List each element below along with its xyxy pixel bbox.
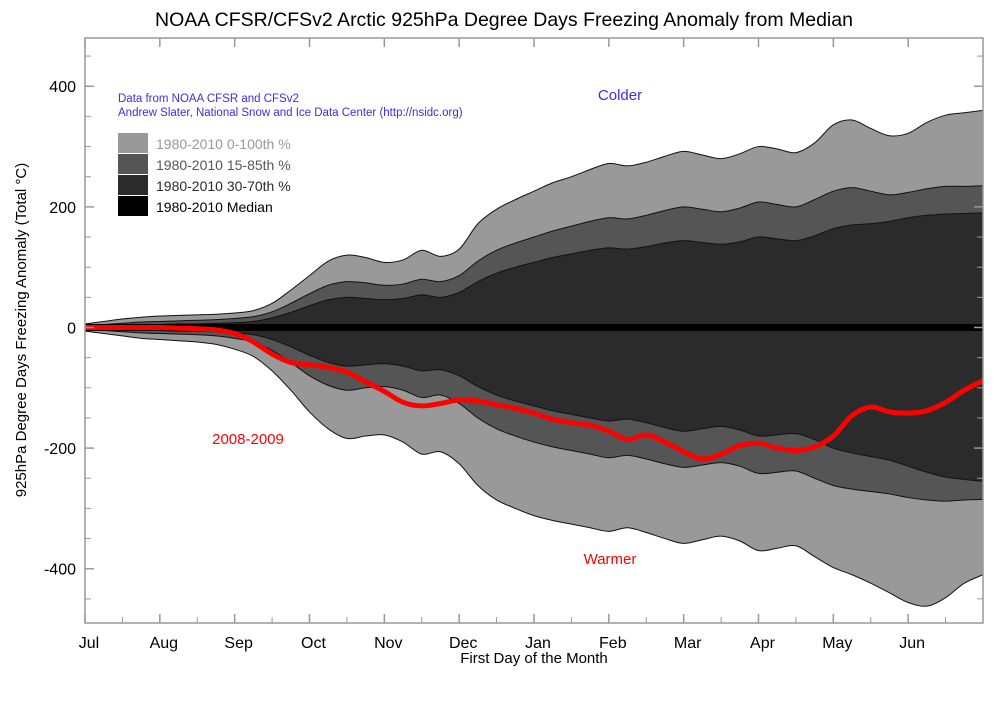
y-tick-label: 200 <box>49 200 76 217</box>
annotation-colder: Colder <box>598 87 642 104</box>
x-tick-label-jul: Jul <box>79 635 99 652</box>
legend-swatch-2 <box>118 154 148 174</box>
legend-swatch-4 <box>118 196 148 216</box>
x-tick-label-feb: Feb <box>599 635 627 652</box>
y-axis-title: 925hPa Degree Days Freezing Anomaly (Tot… <box>13 163 30 498</box>
chart-title: NOAA CFSR/CFSv2 Arctic 925hPa Degree Day… <box>155 9 853 31</box>
x-tick-label-dec: Dec <box>449 635 477 652</box>
credit-line-1: Data from NOAA CFSR and CFSv2 <box>118 93 299 105</box>
annotation-warmer: Warmer <box>584 551 637 568</box>
legend-swatch-3 <box>118 175 148 195</box>
legend-swatch-1 <box>118 133 148 153</box>
annotation-series-label: 2008-2009 <box>212 431 284 448</box>
x-tick-label-may: May <box>822 635 852 652</box>
x-tick-label-jun: Jun <box>899 635 925 652</box>
y-tick-label: -200 <box>44 441 76 458</box>
credits-block: Data from NOAA CFSR and CFSv2Andrew Slat… <box>118 93 463 119</box>
legend-label-2: 1980-2010 15-85th % <box>156 157 291 173</box>
chart-figure: NOAA CFSR/CFSv2 Arctic 925hPa Degree Day… <box>0 0 1008 720</box>
y-tick-label: -400 <box>44 562 76 579</box>
chart-legend: 1980-2010 0-100th %1980-2010 15-85th %19… <box>118 133 291 216</box>
x-tick-label-oct: Oct <box>301 635 326 652</box>
credit-line-2: Andrew Slater, National Snow and Ice Dat… <box>118 107 463 119</box>
y-tick-label: 400 <box>49 79 76 96</box>
x-tick-label-mar: Mar <box>674 635 702 652</box>
chart-canvas: NOAA CFSR/CFSv2 Arctic 925hPa Degree Day… <box>0 0 1008 720</box>
x-tick-label-nov: Nov <box>374 635 402 652</box>
x-tick-label-apr: Apr <box>750 635 776 652</box>
y-tick-label: 0 <box>67 320 76 337</box>
x-tick-label-sep: Sep <box>224 635 253 652</box>
x-tick-label-jan: Jan <box>525 635 551 652</box>
x-tick-label-aug: Aug <box>150 635 178 652</box>
legend-label-1: 1980-2010 0-100th % <box>156 136 291 152</box>
legend-label-3: 1980-2010 30-70th % <box>156 178 291 194</box>
x-axis-title: First Day of the Month <box>460 650 608 667</box>
legend-label-4: 1980-2010 Median <box>156 199 273 215</box>
